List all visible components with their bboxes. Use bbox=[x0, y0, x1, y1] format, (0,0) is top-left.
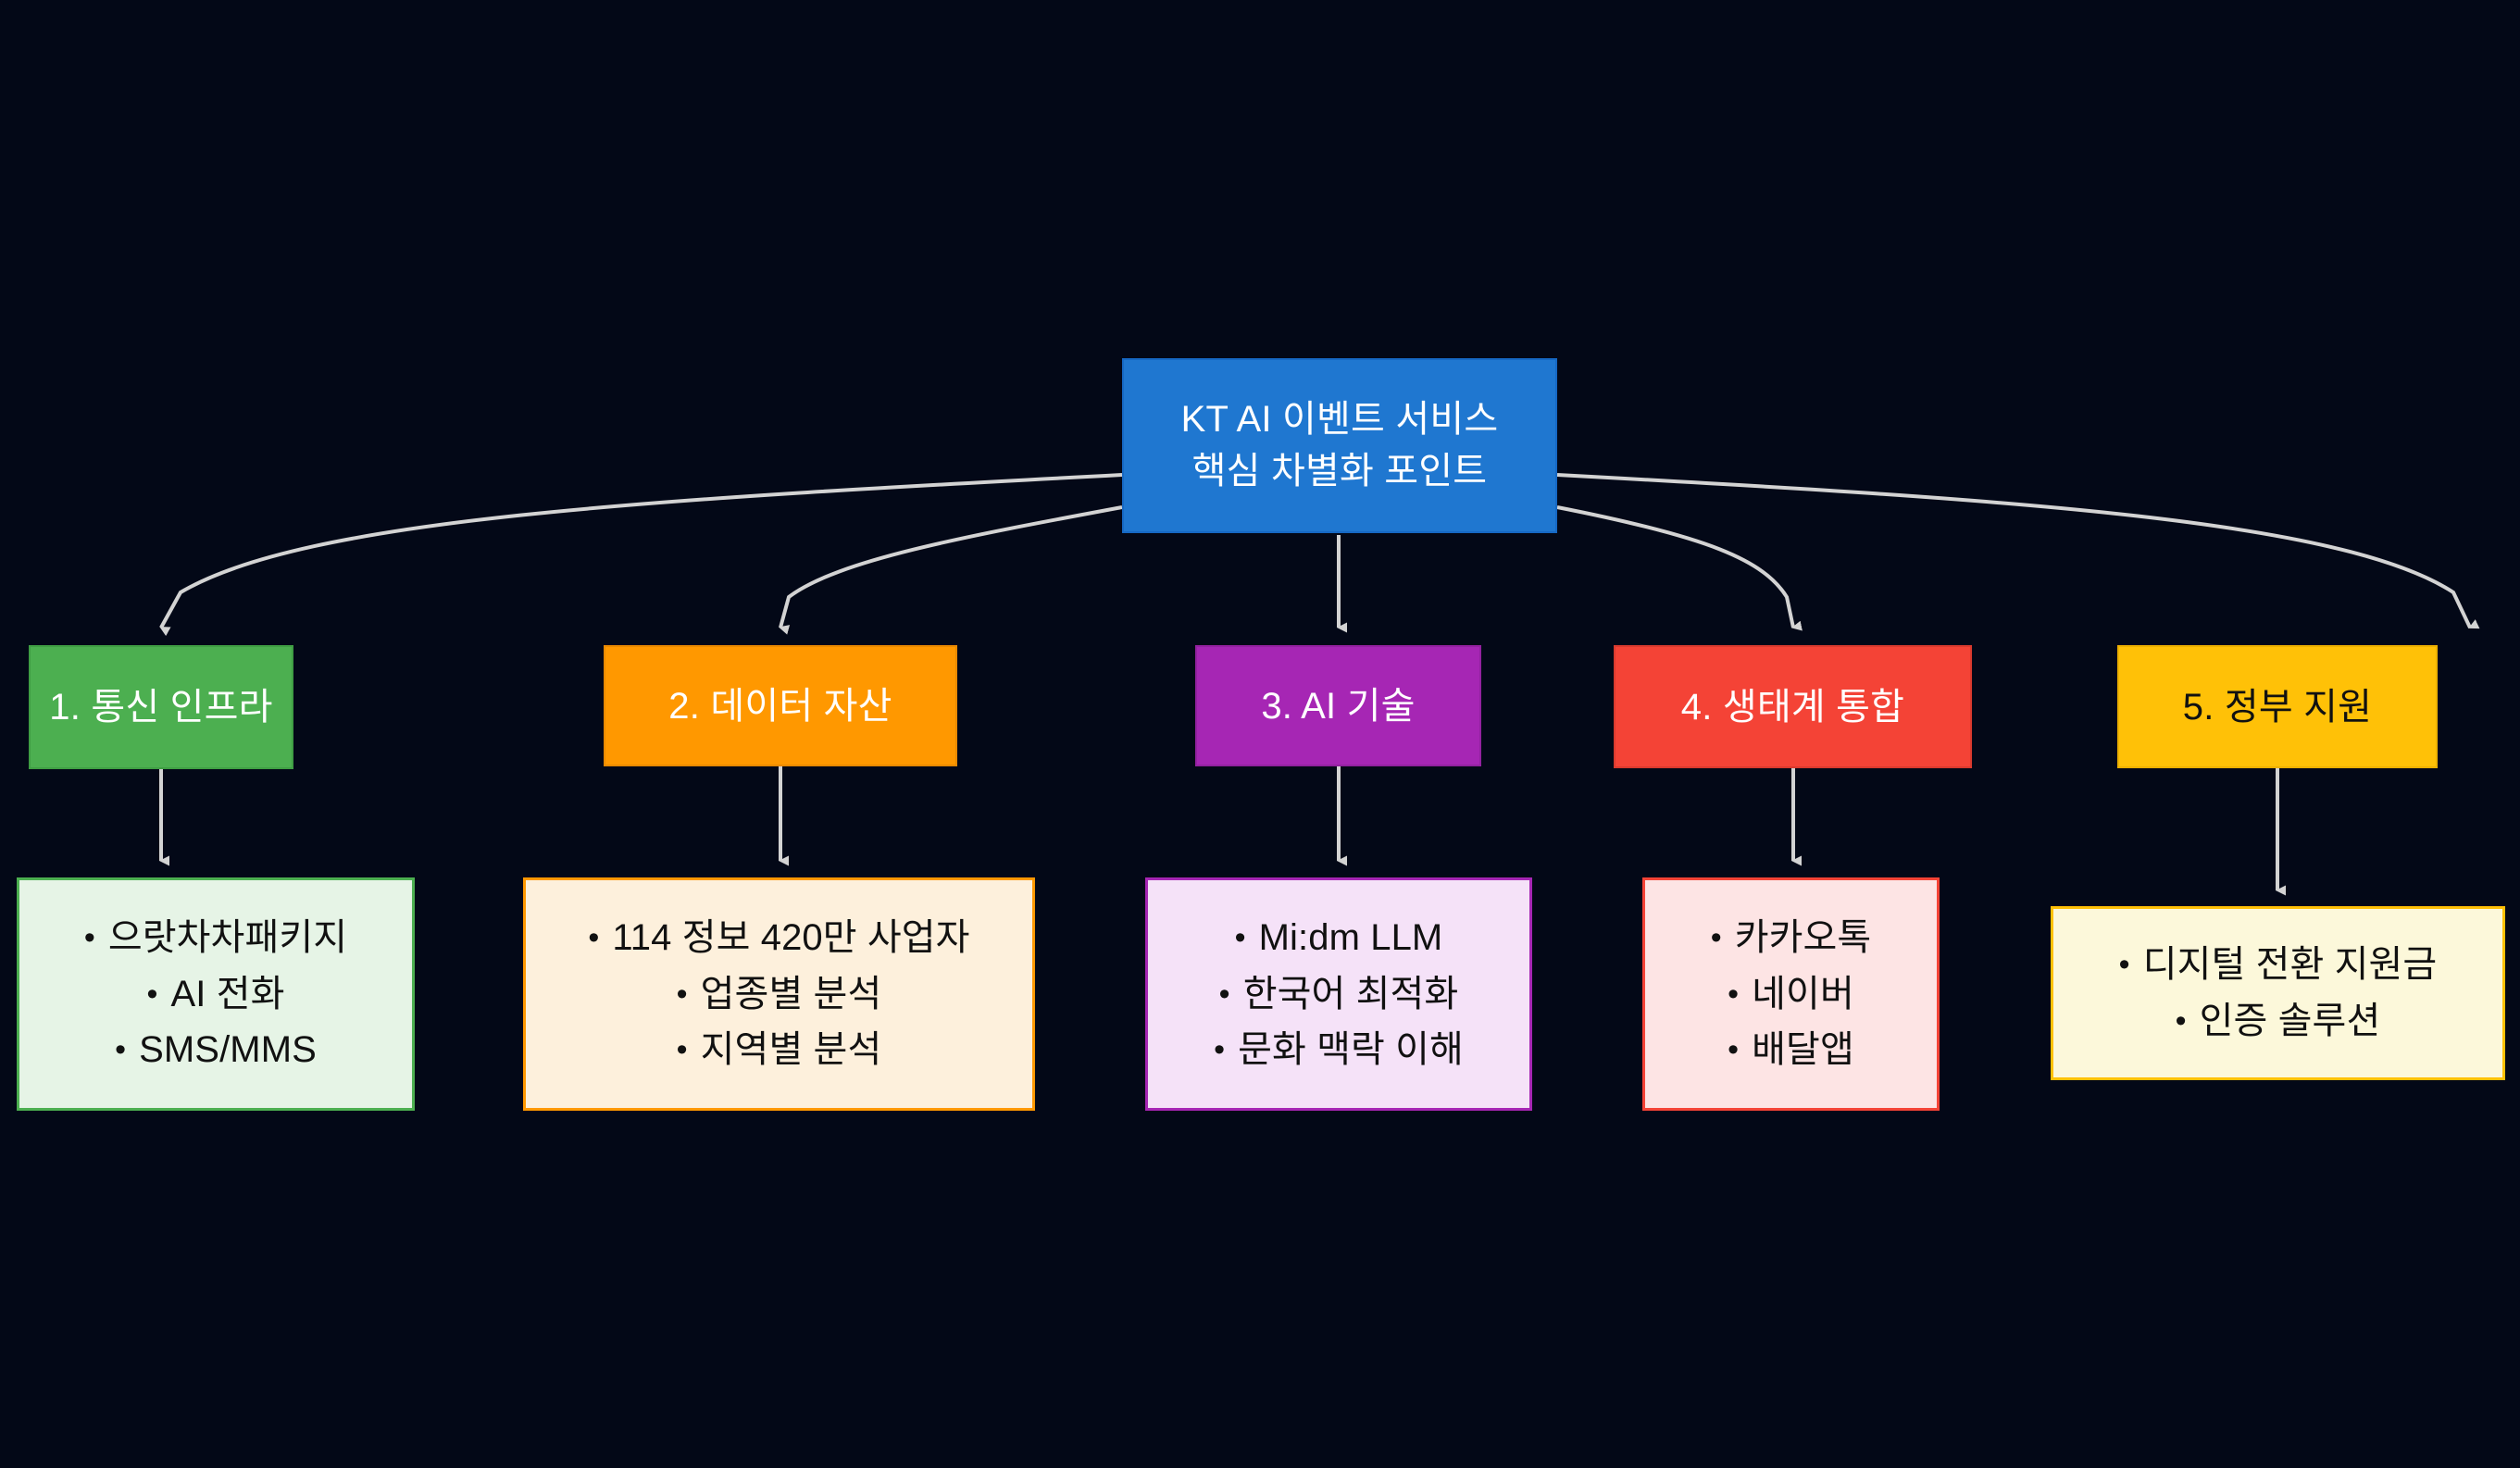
detail-item: 지역별 분석 bbox=[526, 1022, 1032, 1078]
category-node-4[interactable]: 4. 생태계 통합 bbox=[1614, 645, 1972, 768]
detail-item: AI 전화 bbox=[19, 966, 412, 1023]
detail-item: 업종별 분석 bbox=[526, 966, 1032, 1023]
detail-item: 문화 맥락 이해 bbox=[1148, 1022, 1529, 1078]
edge-root-to-cat2 bbox=[780, 507, 1122, 628]
detail-item: Mi:dm LLM bbox=[1148, 910, 1529, 966]
detail-node-5-list: 디지털 전환 지원금인증 솔루션 bbox=[2053, 937, 2502, 1050]
detail-item: 네이버 bbox=[1645, 966, 1937, 1023]
detail-node-1-list: 으랏차차패키지AI 전화SMS/MMS bbox=[19, 910, 412, 1078]
detail-item: 디지털 전환 지원금 bbox=[2053, 937, 2502, 993]
detail-item: SMS/MMS bbox=[19, 1022, 412, 1078]
detail-node-4-list: 카카오톡네이버배달앱 bbox=[1645, 910, 1937, 1078]
category-node-2-label: 2. 데이터 자산 bbox=[668, 682, 892, 730]
category-node-5-label: 5. 정부 지원 bbox=[2183, 683, 2372, 731]
category-node-3-label: 3. AI 기술 bbox=[1261, 682, 1415, 730]
edge-root-to-cat5 bbox=[1557, 475, 2470, 628]
detail-item: 으랏차차패키지 bbox=[19, 910, 412, 966]
category-node-1[interactable]: 1. 통신 인프라 bbox=[29, 645, 293, 769]
root-node-line2: 핵심 차별화 포인트 bbox=[1192, 446, 1488, 497]
edge-root-to-cat1 bbox=[161, 475, 1122, 628]
detail-node-2[interactable]: 114 정보 420만 사업자업종별 분석지역별 분석 bbox=[523, 877, 1035, 1111]
detail-node-3-list: Mi:dm LLM한국어 최적화문화 맥락 이해 bbox=[1148, 910, 1529, 1078]
detail-node-5[interactable]: 디지털 전환 지원금인증 솔루션 bbox=[2051, 906, 2505, 1080]
edge-root-to-cat4 bbox=[1557, 507, 1793, 628]
detail-node-3[interactable]: Mi:dm LLM한국어 최적화문화 맥락 이해 bbox=[1145, 877, 1532, 1111]
category-node-5[interactable]: 5. 정부 지원 bbox=[2117, 645, 2438, 768]
root-node[interactable]: KT AI 이벤트 서비스 핵심 차별화 포인트 bbox=[1122, 358, 1557, 533]
category-node-1-label: 1. 통신 인프라 bbox=[49, 683, 272, 731]
detail-node-1[interactable]: 으랏차차패키지AI 전화SMS/MMS bbox=[17, 877, 415, 1111]
category-node-4-label: 4. 생태계 통합 bbox=[1681, 683, 1904, 731]
detail-item: 배달앱 bbox=[1645, 1022, 1937, 1078]
detail-node-2-list: 114 정보 420만 사업자업종별 분석지역별 분석 bbox=[526, 910, 1032, 1078]
detail-node-4[interactable]: 카카오톡네이버배달앱 bbox=[1642, 877, 1940, 1111]
diagram-canvas: KT AI 이벤트 서비스 핵심 차별화 포인트 1. 통신 인프라 2. 데이… bbox=[0, 0, 2520, 1468]
detail-item: 114 정보 420만 사업자 bbox=[526, 910, 1032, 966]
category-node-2[interactable]: 2. 데이터 자산 bbox=[604, 645, 957, 766]
category-node-3[interactable]: 3. AI 기술 bbox=[1195, 645, 1481, 766]
detail-item: 인증 솔루션 bbox=[2053, 993, 2502, 1050]
detail-item: 카카오톡 bbox=[1645, 910, 1937, 966]
detail-item: 한국어 최적화 bbox=[1148, 966, 1529, 1023]
root-node-line1: KT AI 이벤트 서비스 bbox=[1181, 394, 1499, 445]
